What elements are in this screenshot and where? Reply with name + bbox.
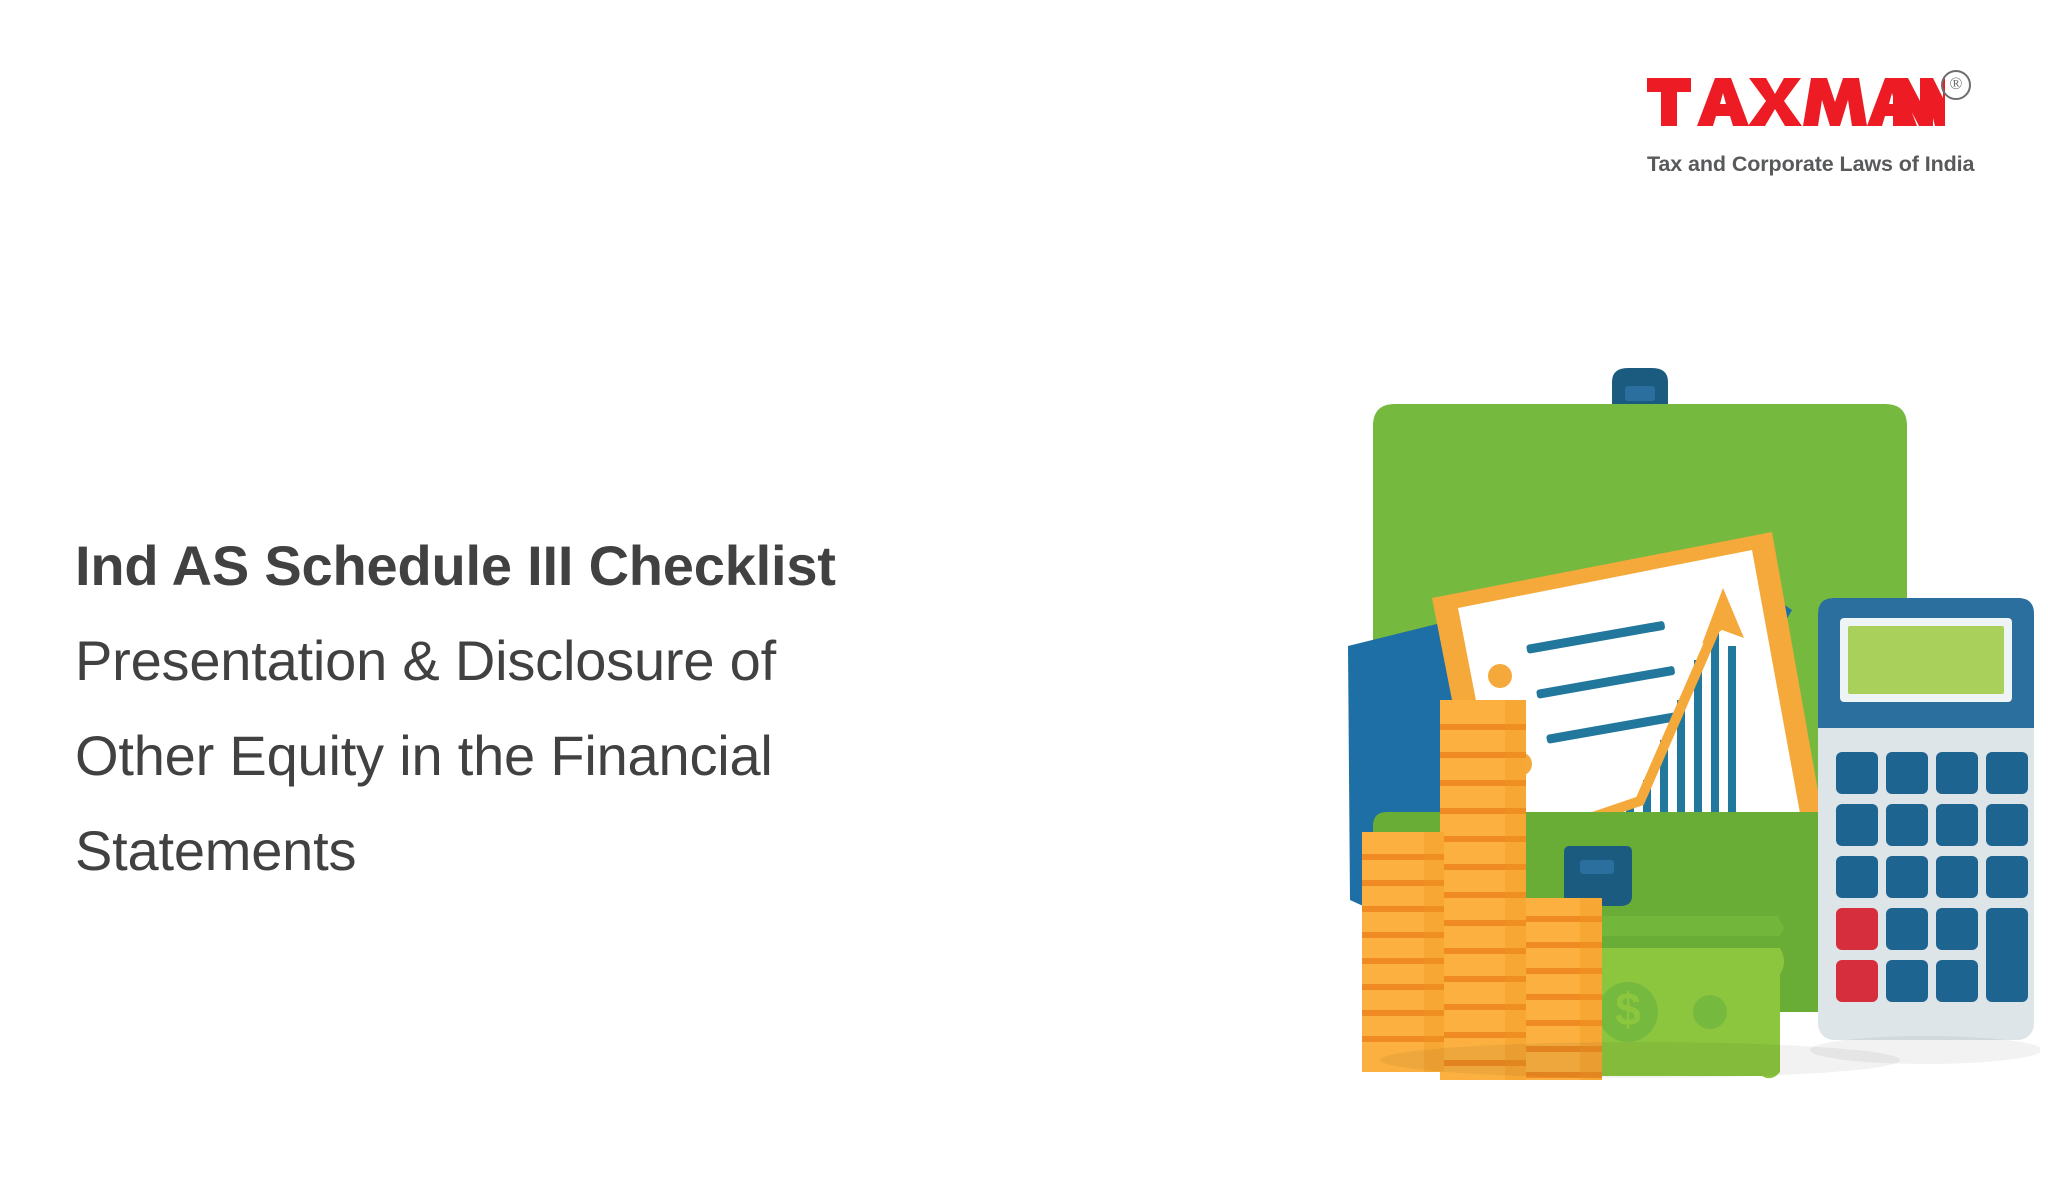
calculator-icon xyxy=(1818,598,2034,1040)
calculator-shadow xyxy=(1810,1036,2040,1064)
logo-tagline: Tax and Corporate Laws of India xyxy=(1647,152,1974,177)
briefcase-handle-icon xyxy=(1612,368,1668,404)
slide-canvas: ® Tax and Corporate Laws of India Ind AS… xyxy=(0,0,2048,1201)
svg-text:$: $ xyxy=(1615,983,1641,1035)
title-line-2: Presentation & Disclosure of xyxy=(75,613,1075,708)
coin-stack-middle-icon xyxy=(1440,700,1526,1080)
title-line-3: Other Equity in the Financial xyxy=(75,708,1075,803)
taxmann-logo: ® Tax and Corporate Laws of India xyxy=(1645,68,1965,188)
illustration-svg: $ xyxy=(1340,360,2040,1080)
title-line-4: Statements xyxy=(75,803,1075,898)
page-title: Ind AS Schedule III Checklist Presentati… xyxy=(75,518,1075,898)
coin-stack-left-icon xyxy=(1362,832,1444,1072)
title-line-1: Ind AS Schedule III Checklist xyxy=(75,518,1075,613)
calculator-screen xyxy=(1848,626,2004,694)
financial-report-illustration: $ xyxy=(1340,360,2040,1080)
registered-trademark-icon: ® xyxy=(1941,70,1971,100)
taxmann-wordmark-icon xyxy=(1645,68,1945,130)
briefcase-latch-icon xyxy=(1564,846,1632,906)
